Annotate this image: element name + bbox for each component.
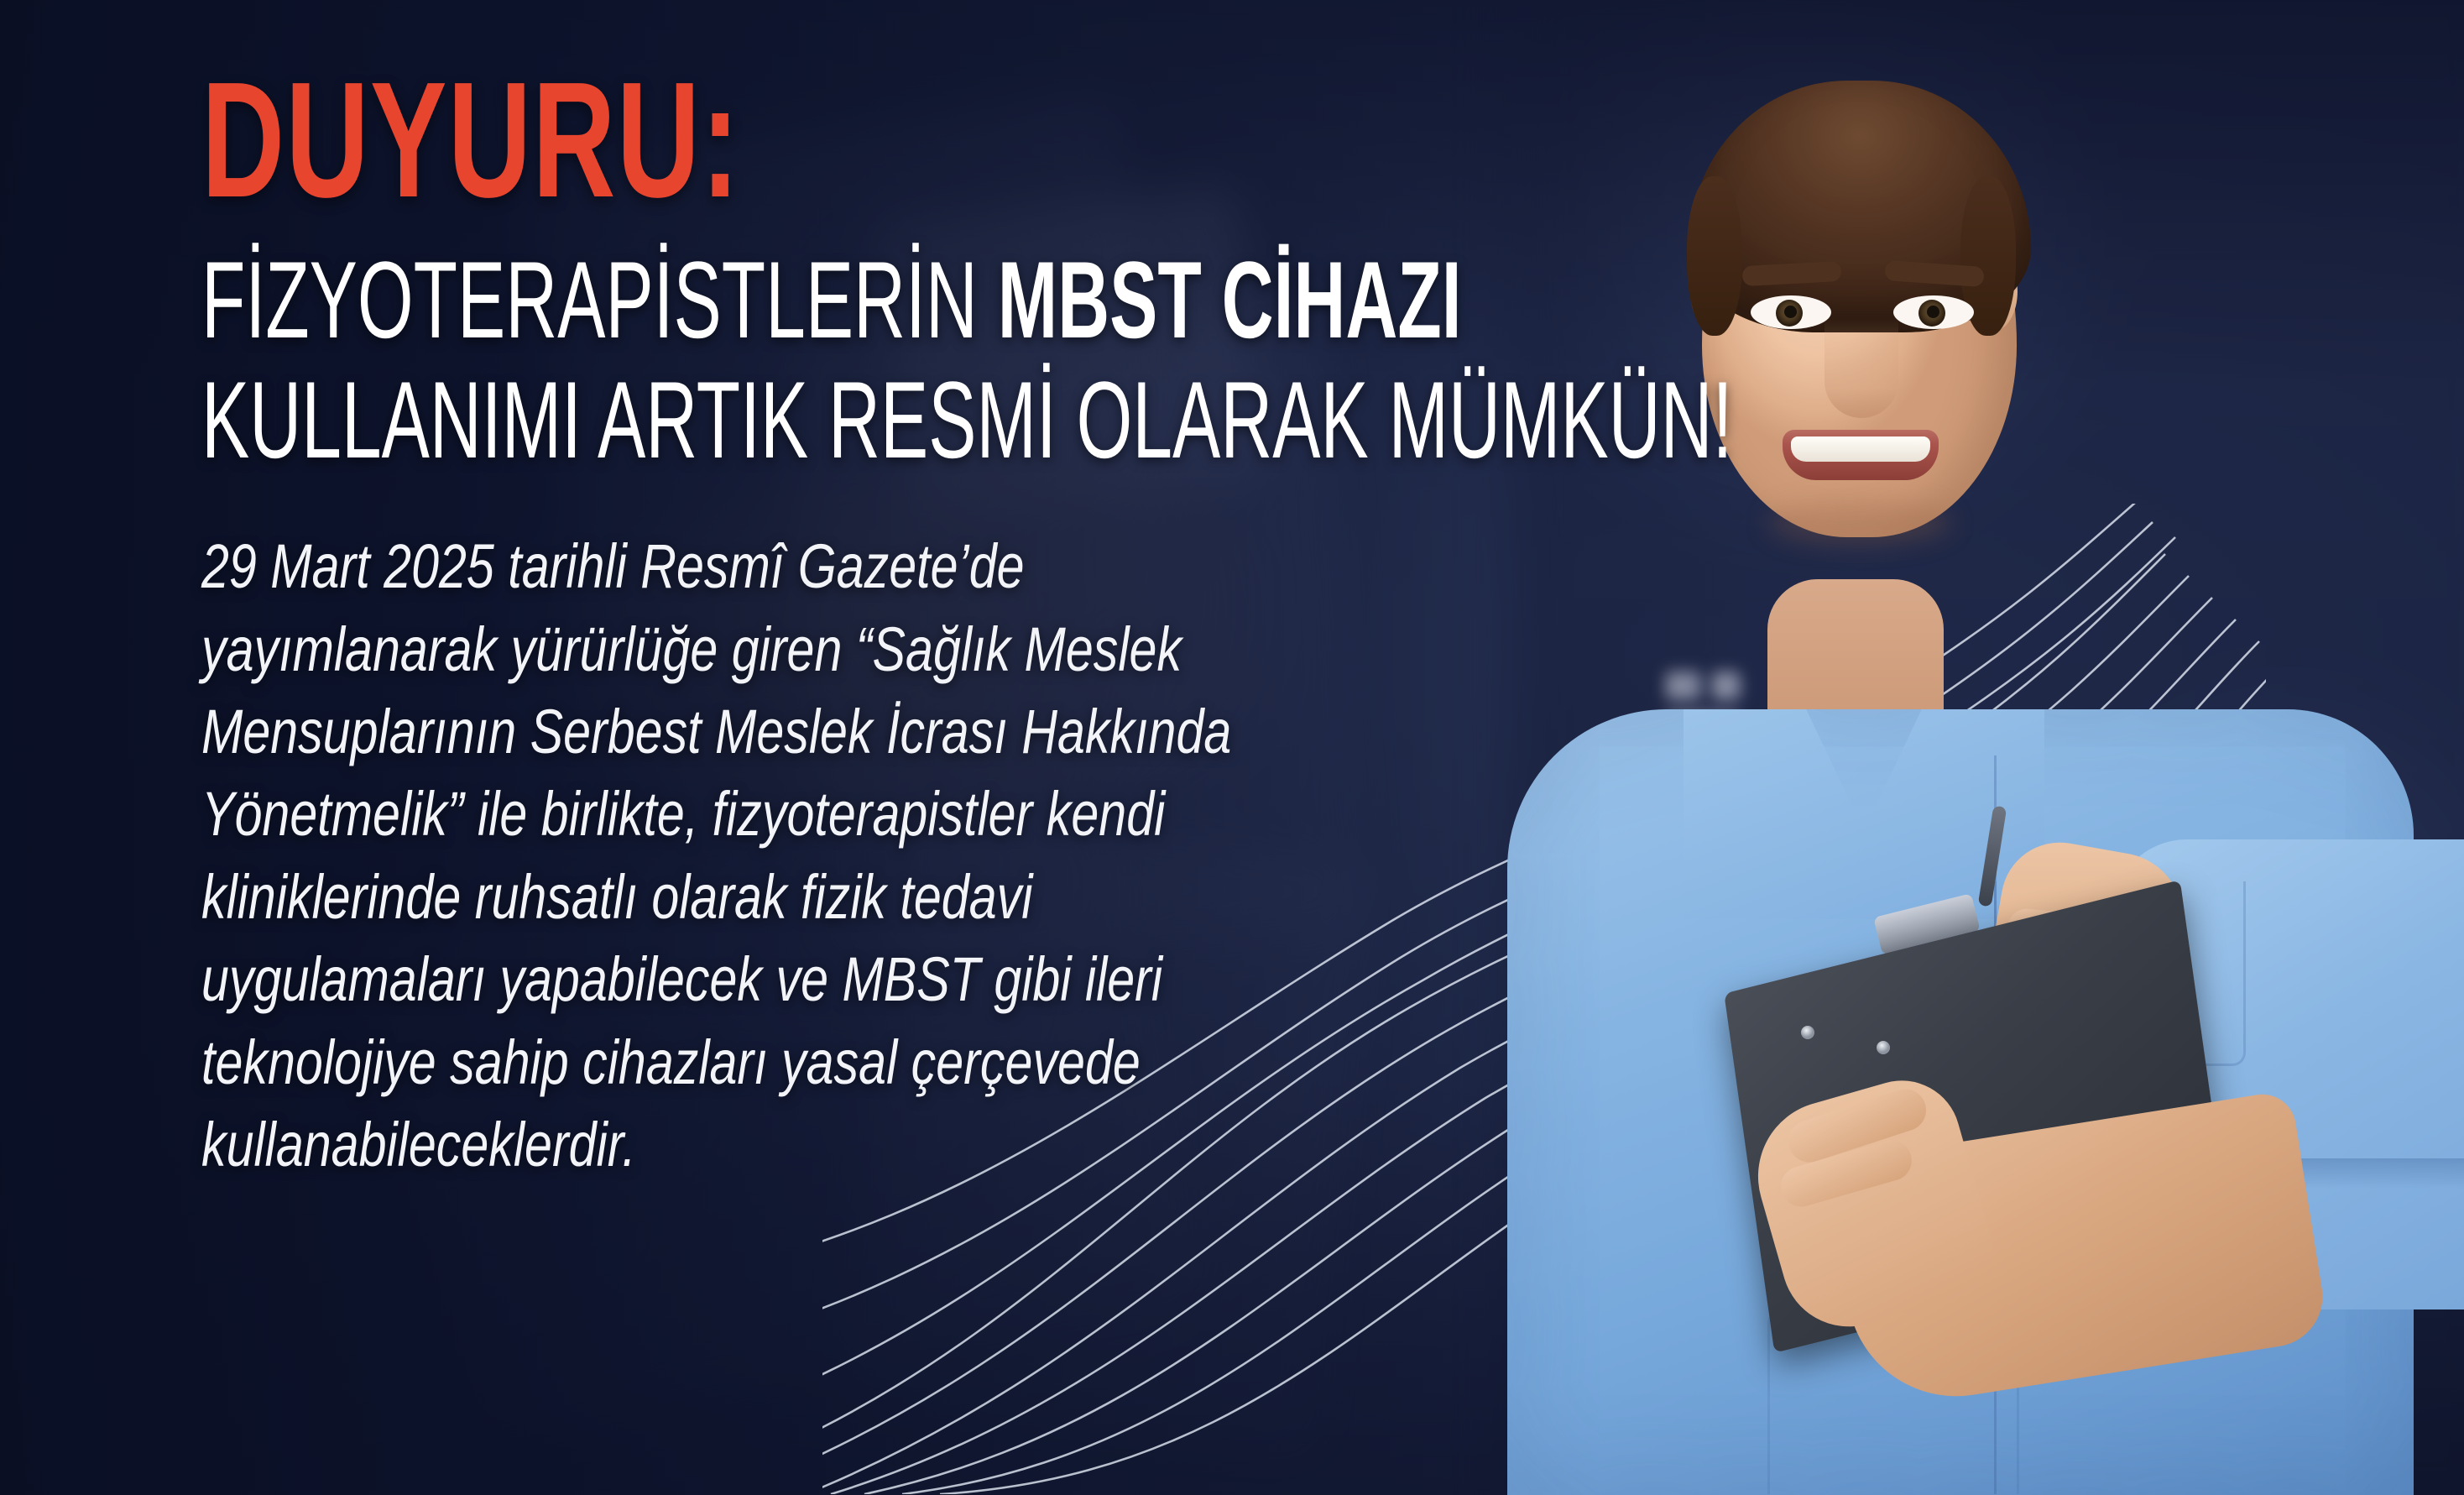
headline-line-2: KULLANIMI ARTIK RESMİ OLARAK MÜMKÜN! — [201, 360, 1232, 480]
announcement-poster: DUYURU: FİZYOTERAPİSTLERİN MBST CİHAZI K… — [0, 0, 2464, 1495]
body-line: uygulamaları yapabilecek ve MBST gibi il… — [201, 938, 1094, 1021]
nose — [1825, 319, 1898, 418]
body-line: yayımlanarak yürürlüğe giren “Sağlık Mes… — [201, 609, 1094, 691]
body-line: kullanabileceklerdir. — [201, 1104, 1094, 1186]
smiling-mouth — [1783, 430, 1939, 480]
headline-line-1: FİZYOTERAPİSTLERİN MBST CİHAZI — [201, 240, 1232, 360]
headline-block: FİZYOTERAPİSTLERİN MBST CİHAZI KULLANIMI… — [201, 240, 1762, 480]
body-paragraph: 29 Mart 2025 tarihli Resmî Gazete’de yay… — [201, 525, 1318, 1186]
headline-line-1-bold: MBST CİHAZI — [998, 238, 1462, 361]
announcement-kicker: DUYURU: — [201, 62, 1294, 218]
headline-line-1-thin: FİZYOTERAPİSTLERİN — [201, 238, 998, 361]
body-line: Mensuplarının Serbest Meslek İcrası Hakk… — [201, 691, 1094, 773]
body-line: teknolojiye sahip cihazları yasal çerçev… — [201, 1022, 1094, 1104]
body-line: 29 Mart 2025 tarihli Resmî Gazete’de — [201, 525, 1094, 608]
body-line: Yönetmelik” ile birlikte, fizyoterapistl… — [201, 773, 1094, 855]
clipboard-rivet-left — [1801, 1026, 1814, 1039]
poster-copy: DUYURU: FİZYOTERAPİSTLERİN MBST CİHAZI K… — [0, 0, 1762, 1495]
eye-left — [1751, 295, 1831, 329]
clipboard-rivet-right — [1877, 1041, 1890, 1054]
body-line: kliniklerinde ruhsatlı olarak fizik teda… — [201, 856, 1094, 938]
chin-shadow — [1767, 500, 1952, 546]
eye-right — [1893, 295, 1974, 329]
